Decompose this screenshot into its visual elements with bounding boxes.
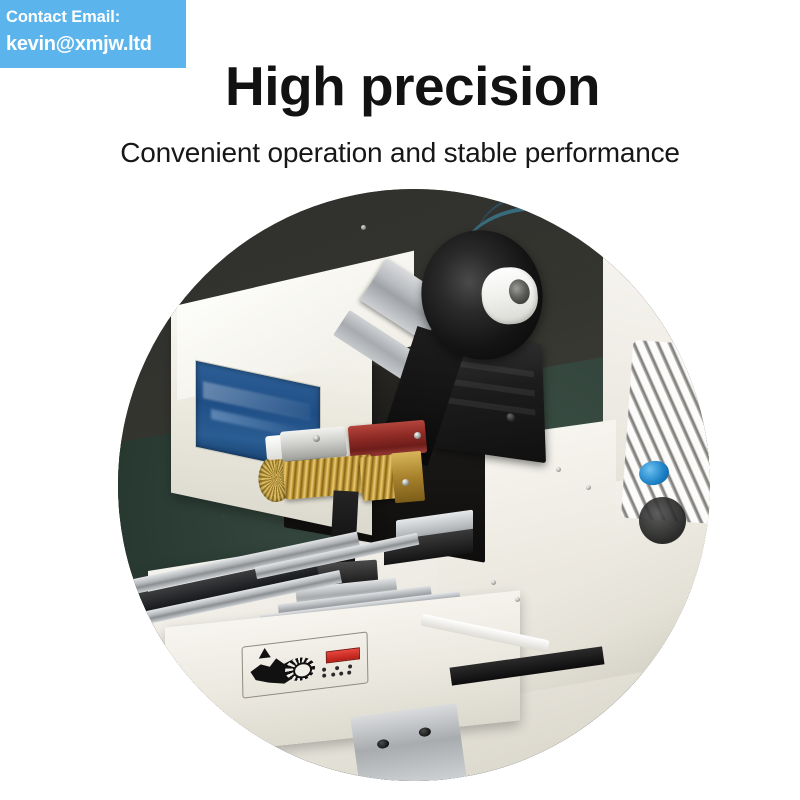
indicator-dot [323, 667, 327, 671]
motor-ridge [441, 397, 536, 416]
panel-screw [361, 225, 366, 230]
indicator-dot [339, 671, 343, 675]
indicator-dot [331, 672, 335, 676]
motor-screw [506, 413, 515, 423]
warning-triangle-icon [259, 647, 271, 658]
wiring-harness [621, 340, 710, 524]
shaft-bolt [414, 432, 421, 439]
product-photo [118, 189, 710, 781]
indicator-dot [347, 670, 351, 674]
silver-roller [280, 426, 347, 461]
mounting-hole [377, 739, 390, 750]
page-subtitle: Convenient operation and stable performa… [0, 136, 800, 170]
contact-email-value[interactable]: kevin@xmjw.ltd [6, 30, 186, 58]
panel-screw [491, 580, 496, 585]
brass-bushing [391, 451, 425, 504]
contact-email-banner: Contact Email: kevin@xmjw.ltd [0, 0, 186, 68]
mounting-foot-bracket [350, 703, 466, 781]
red-indicator-strip [326, 647, 361, 663]
mounting-hole [418, 727, 431, 738]
indicator-dot [348, 664, 352, 668]
indicator-dot [323, 673, 327, 677]
product-photo-circle [118, 189, 710, 781]
indicator-dots [320, 663, 358, 681]
indicator-dot [335, 665, 339, 669]
contact-email-label: Contact Email: [6, 5, 186, 30]
product-banner-page: Contact Email: kevin@xmjw.ltd High preci… [0, 0, 800, 800]
panel-screw [586, 485, 591, 490]
